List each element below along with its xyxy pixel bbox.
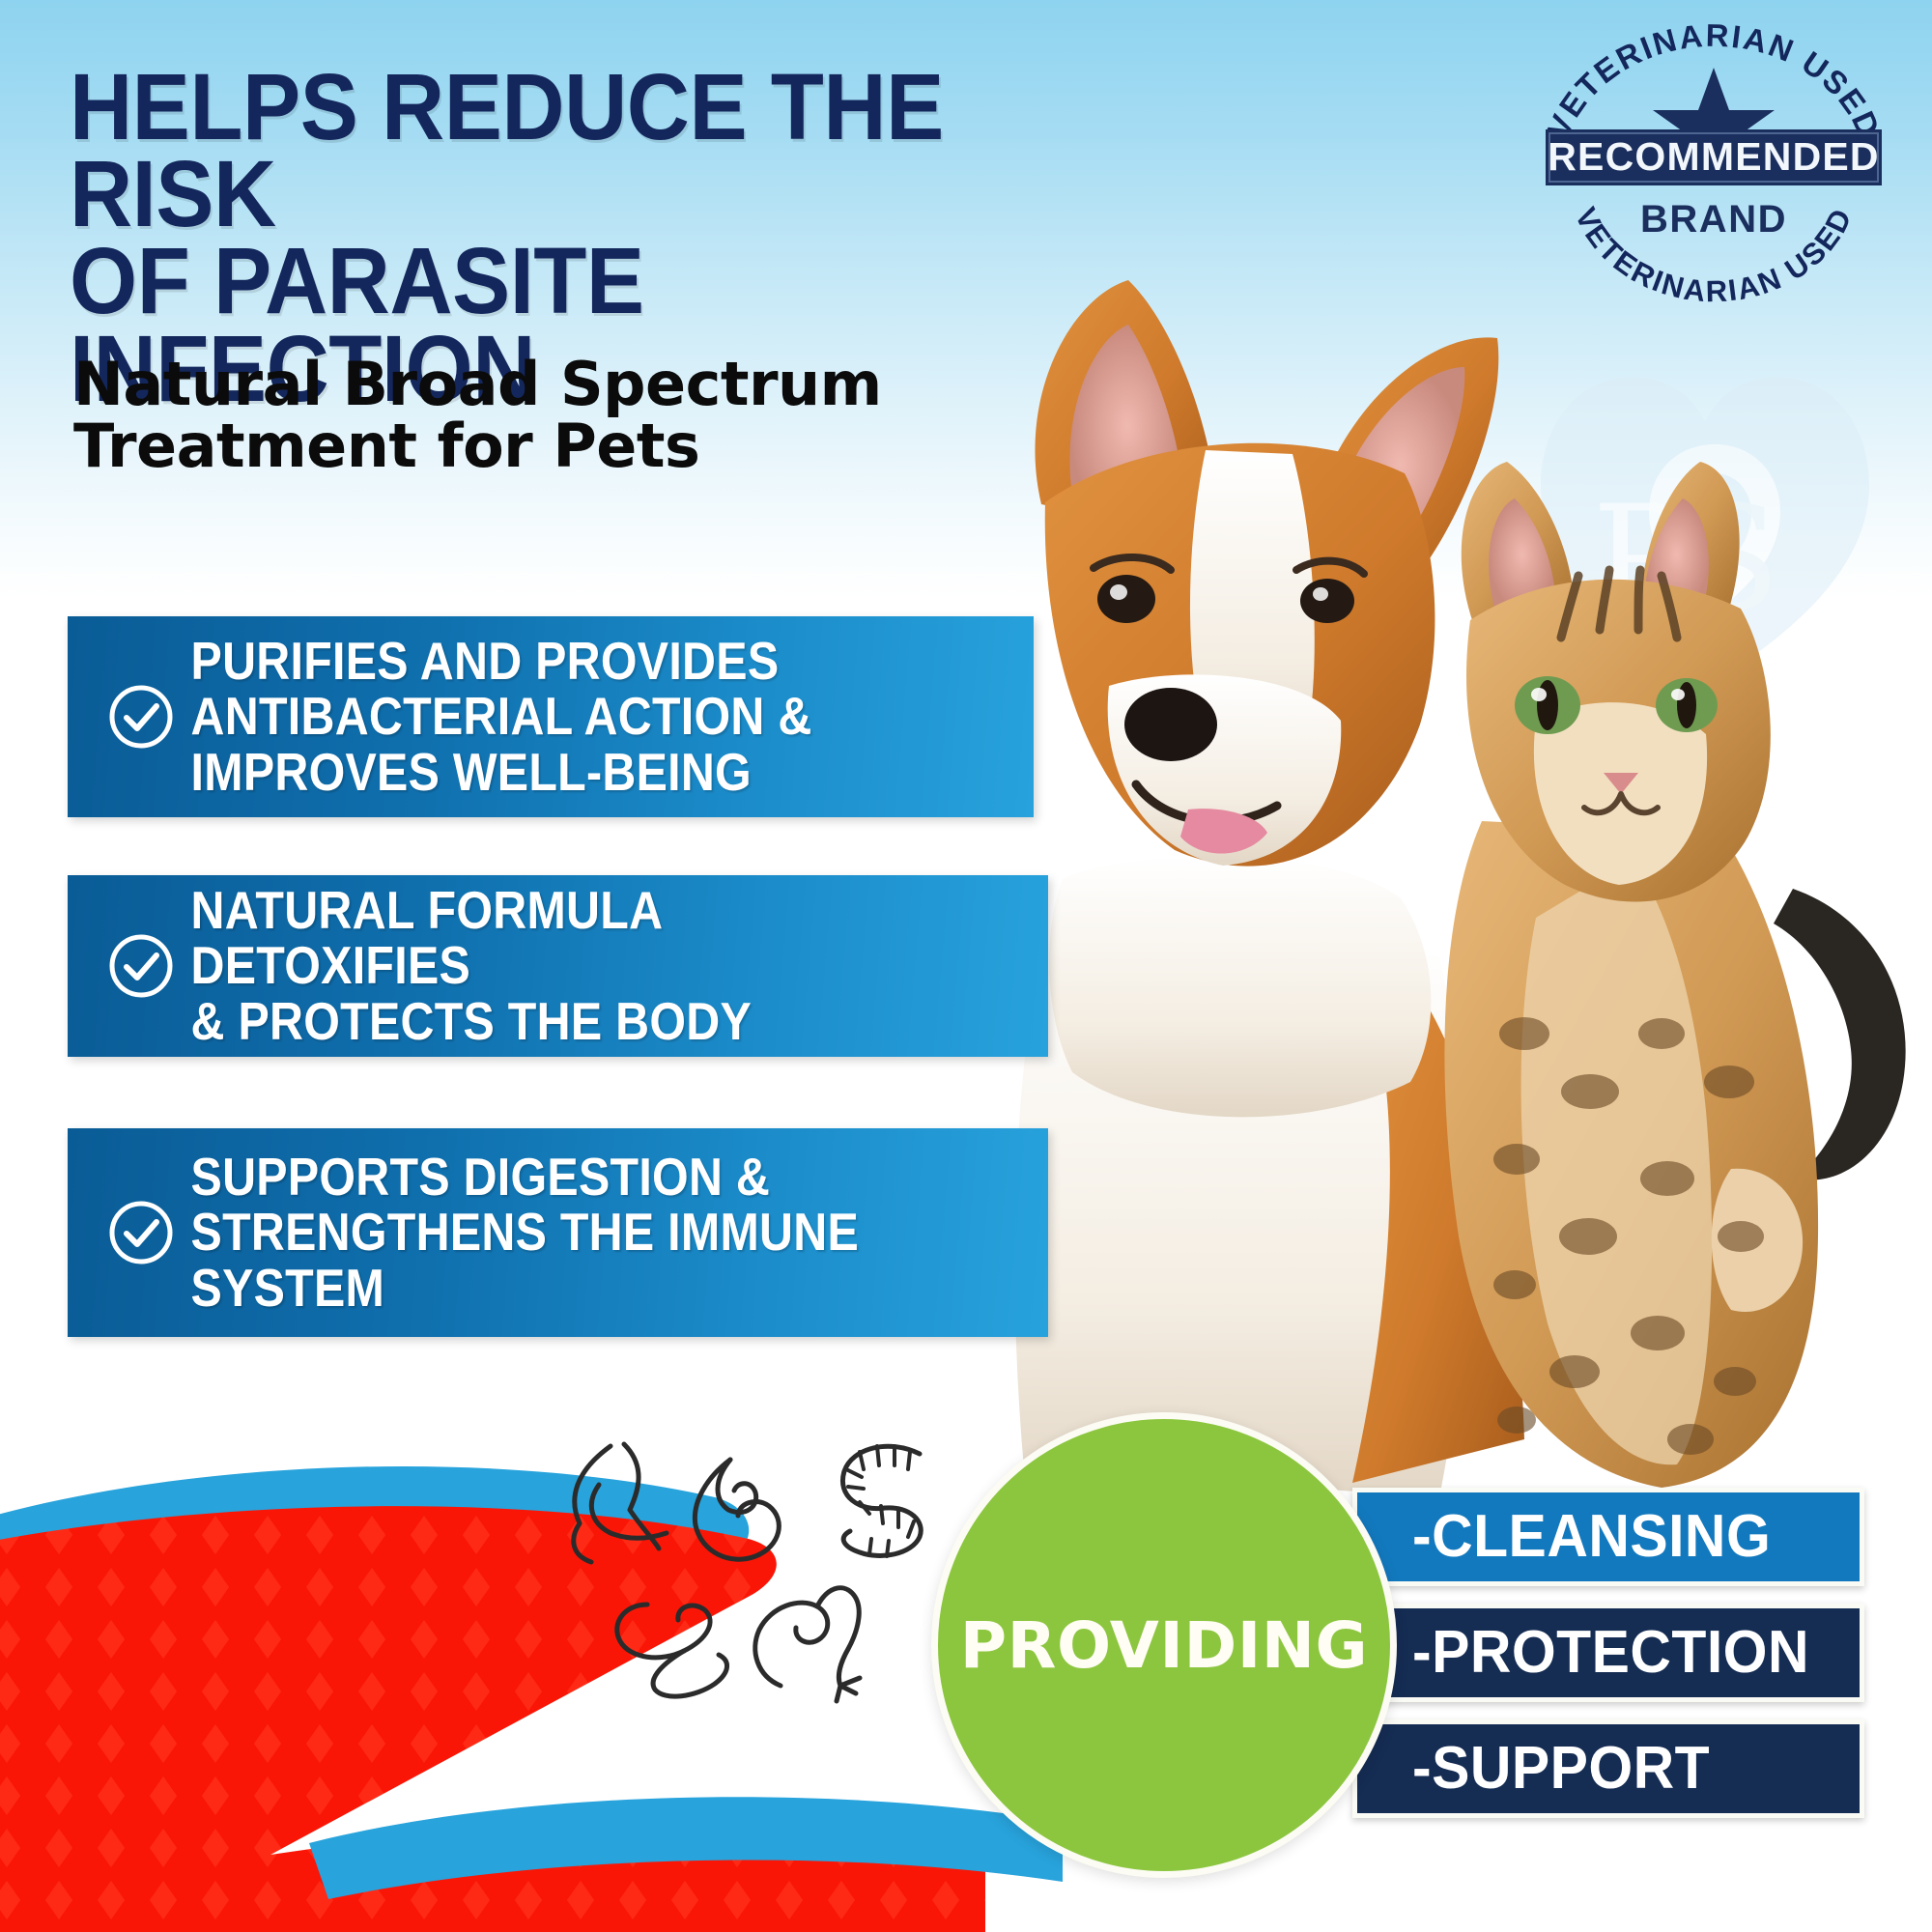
providing-circle[interactable]: PROVIDING bbox=[931, 1412, 1397, 1878]
benefit-bar-text: SUPPORTS DIGESTION & STRENGTHENS THE IMM… bbox=[187, 1150, 874, 1316]
side-label-protection[interactable]: -PROTECTION bbox=[1352, 1604, 1864, 1702]
benefit-bar[interactable]: NATURAL FORMULA DETOXIFIES & PROTECTS TH… bbox=[68, 875, 1048, 1057]
side-label-text: -CLEANSING bbox=[1357, 1507, 1771, 1567]
side-label-text: -SUPPORT bbox=[1357, 1739, 1710, 1799]
check-circle-icon bbox=[95, 1197, 187, 1268]
benefit-bar-text: PURIFIES AND PROVIDES ANTIBACTERIAL ACTI… bbox=[187, 634, 827, 800]
side-label-text: -PROTECTION bbox=[1357, 1623, 1809, 1683]
benefit-bar-text: NATURAL FORMULA DETOXIFIES & PROTECTS TH… bbox=[187, 883, 945, 1049]
benefit-bar[interactable]: SUPPORTS DIGESTION & STRENGTHENS THE IMM… bbox=[68, 1128, 1048, 1337]
providing-label: PROVIDING bbox=[960, 1608, 1368, 1683]
check-circle-icon bbox=[95, 930, 187, 1002]
side-label-support[interactable]: -SUPPORT bbox=[1352, 1719, 1864, 1818]
side-label-cleansing[interactable]: -CLEANSING bbox=[1352, 1488, 1864, 1586]
infographic-canvas: P S HELPS REDUCE THE RISK OF PARASITE IN… bbox=[0, 0, 1932, 1932]
benefit-bar[interactable]: PURIFIES AND PROVIDES ANTIBACTERIAL ACTI… bbox=[68, 616, 1034, 817]
check-circle-icon bbox=[95, 681, 187, 753]
